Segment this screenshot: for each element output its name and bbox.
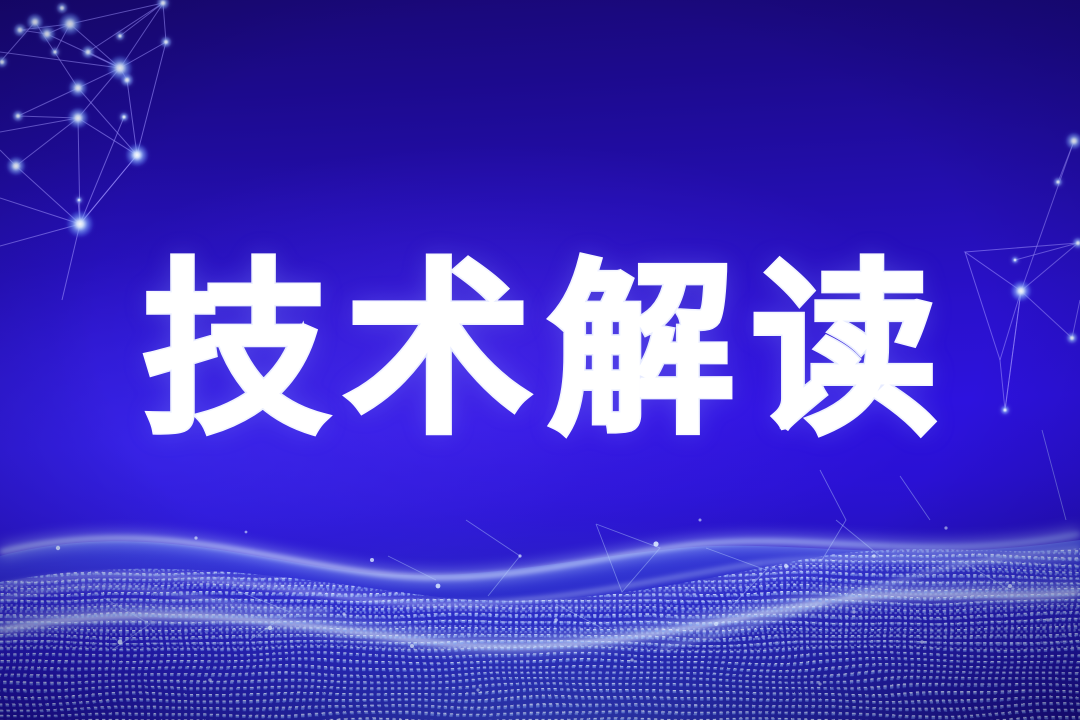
tech-banner: 技术解读 xyxy=(0,0,1080,720)
thin-filaments xyxy=(104,430,1066,650)
spark-dots xyxy=(56,519,1050,692)
spark-particles xyxy=(0,0,1080,720)
